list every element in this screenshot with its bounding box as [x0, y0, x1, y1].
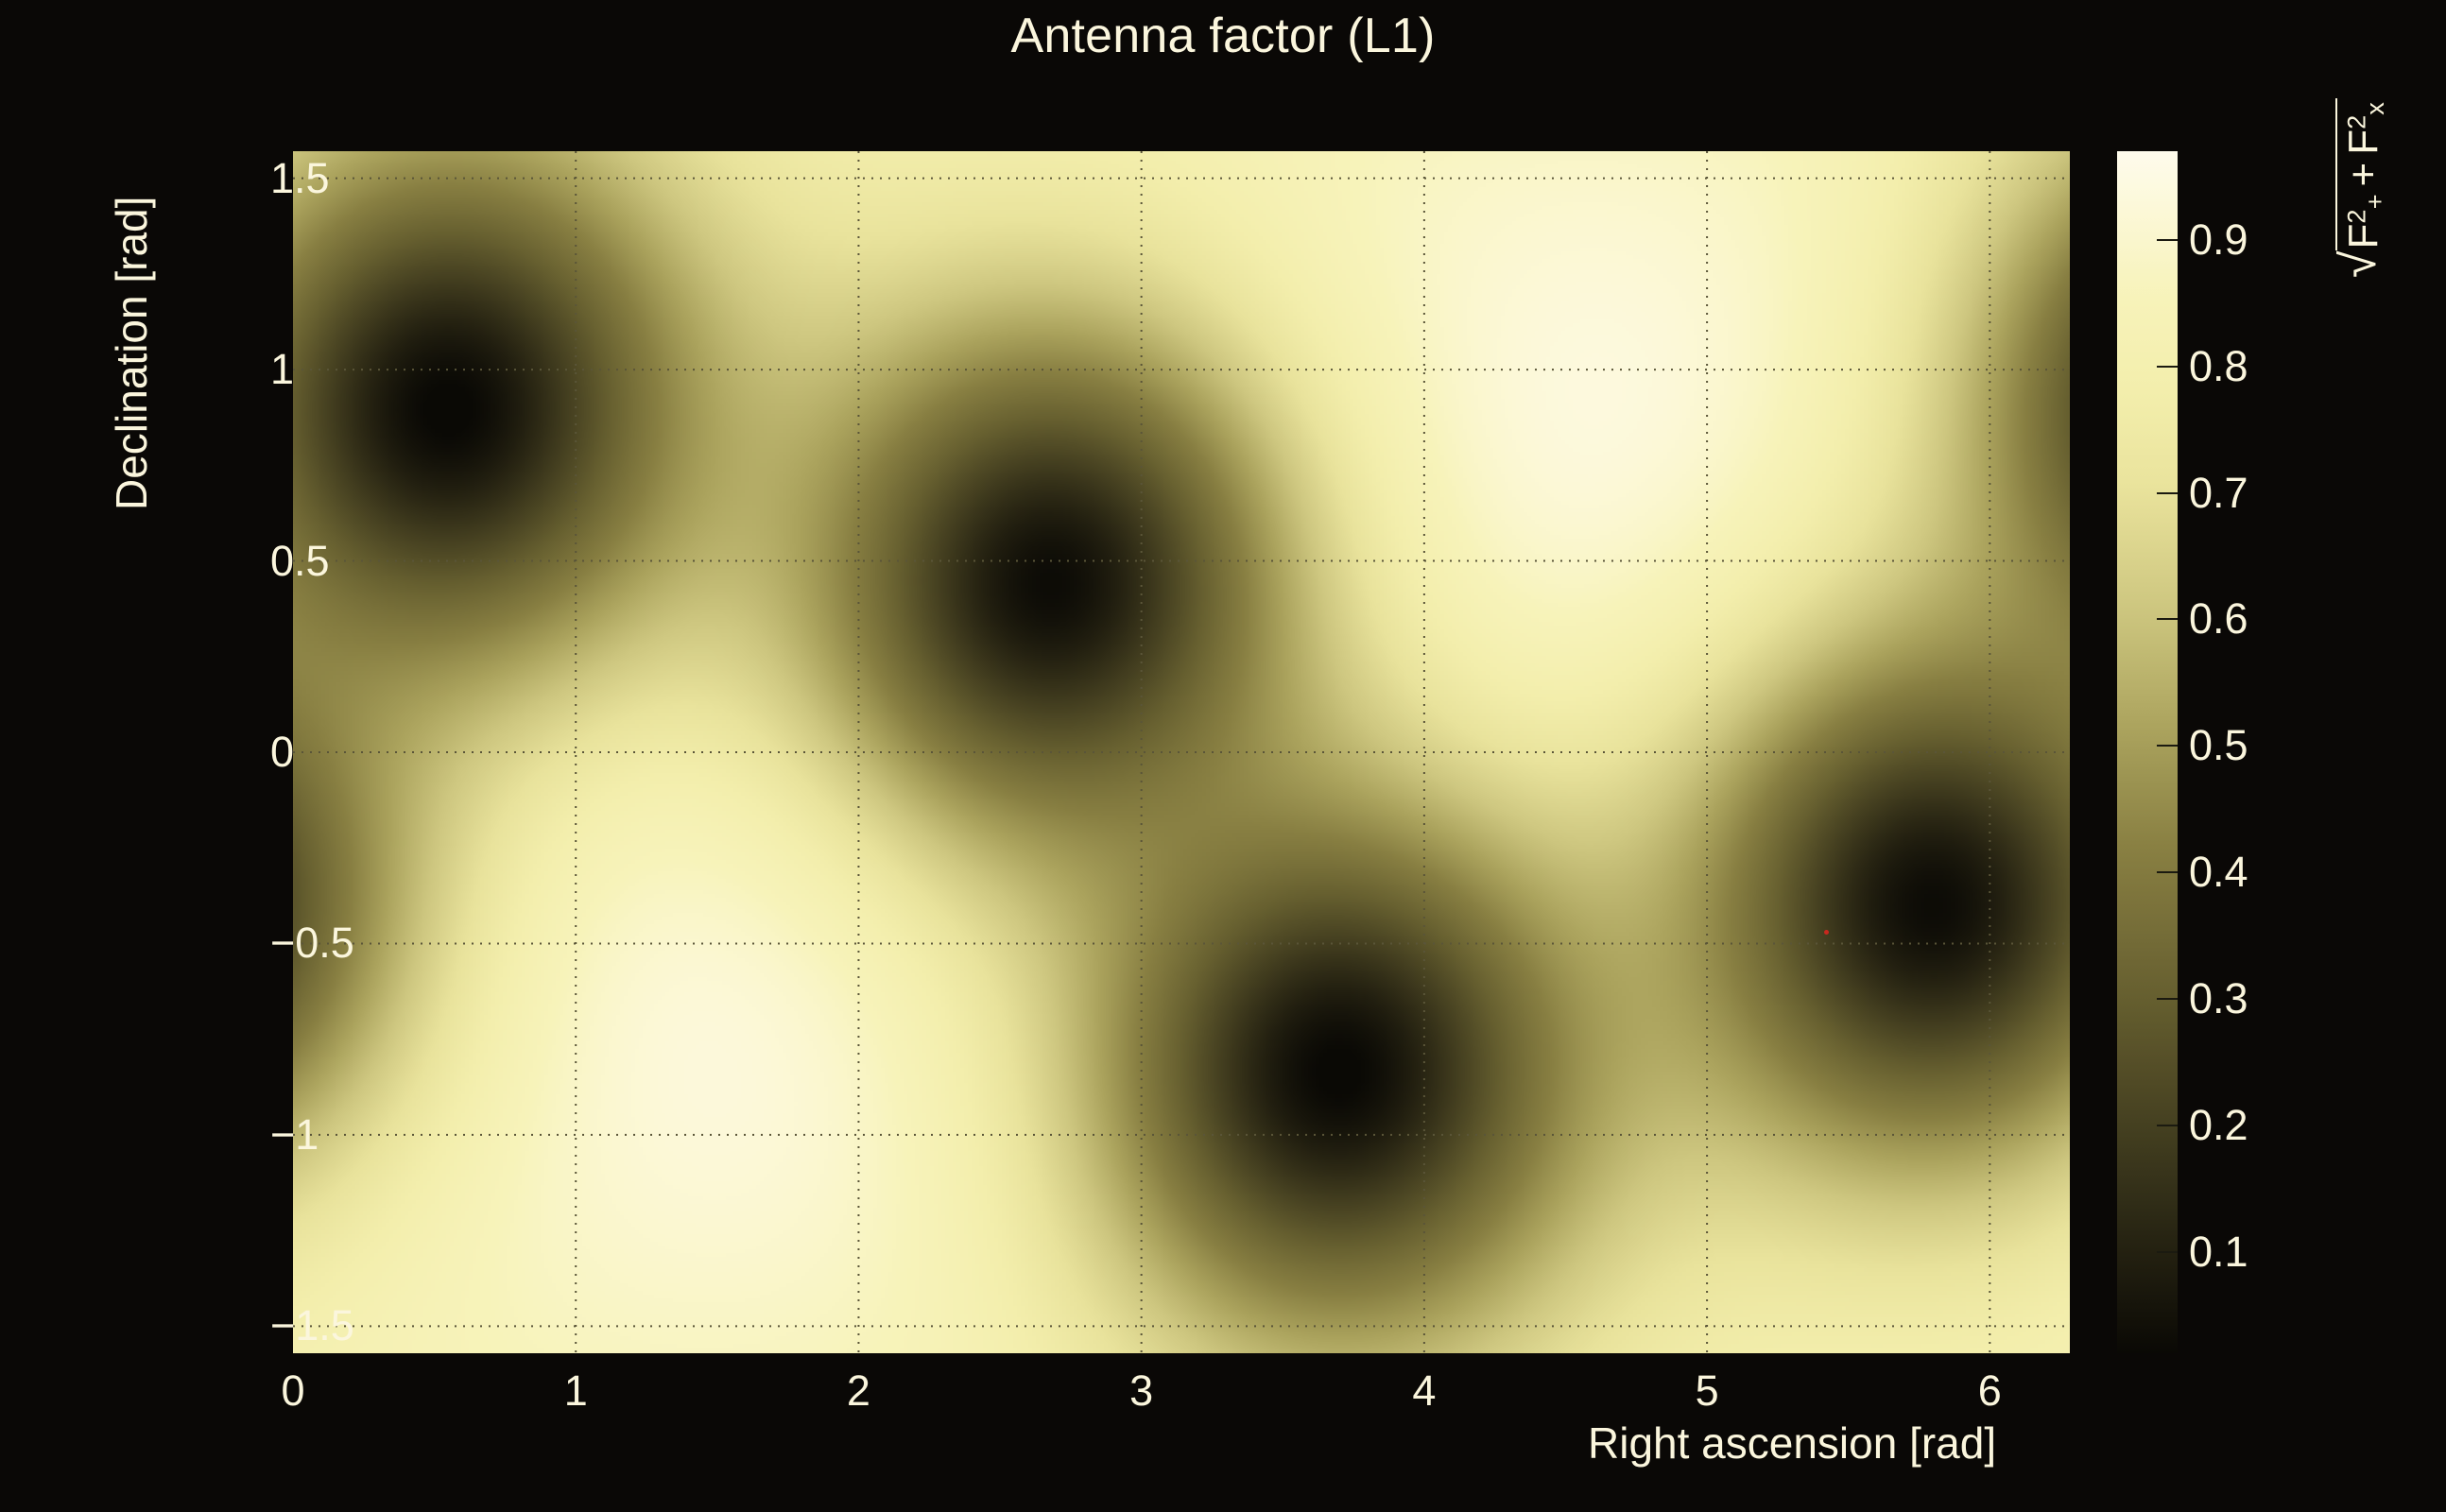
f-plus-base: F: [2340, 224, 2386, 249]
colorbar-tick-label: 0.2: [2189, 1101, 2248, 1150]
colorbar-tick-mark: [2157, 492, 2178, 494]
colorbar-axis-title: √F2++F2x: [2333, 98, 2390, 283]
x-tick-label: 2: [847, 1366, 870, 1416]
radical-icon: √: [2331, 250, 2387, 278]
x-tick-label: 5: [1696, 1366, 1719, 1416]
f-cross-sup: 2: [2342, 115, 2371, 129]
x-tick-label: 6: [1978, 1366, 2002, 1416]
f-cross-base: F: [2340, 129, 2386, 155]
colorbar-tick-label: 0.5: [2189, 721, 2248, 770]
colorbar-tick-label: 0.8: [2189, 342, 2248, 391]
colorbar-tick-mark: [2157, 366, 2178, 368]
colorbar-tick-mark: [2157, 1251, 2178, 1253]
colorbar-tick-label: 0.9: [2189, 215, 2248, 265]
x-tick-label: 4: [1412, 1366, 1436, 1416]
colorbar-tick-label: 0.7: [2189, 469, 2248, 518]
colorbar-tick-mark: [2157, 745, 2178, 747]
radicand: F2++F2x: [2335, 98, 2390, 250]
colorbar-gradient: [2117, 151, 2178, 1353]
y-axis-title: Declination [rad]: [106, 197, 157, 510]
colorbar-tick-label: 0.4: [2189, 848, 2248, 897]
page-title: Antenna factor (L1): [0, 8, 2446, 64]
colorbar-tick-mark: [2157, 239, 2178, 241]
f-plus-sup: 2: [2342, 209, 2371, 223]
f-plus-sub: +: [2360, 194, 2389, 209]
colorbar[interactable]: [2117, 151, 2178, 1353]
x-tick-label: 1: [564, 1366, 588, 1416]
colorbar-tick-mark: [2157, 998, 2178, 1000]
plus-operator: +: [2340, 155, 2386, 195]
x-tick-label: 0: [281, 1366, 304, 1416]
colorbar-tick-mark: [2157, 618, 2178, 620]
x-tick-label: 3: [1129, 1366, 1153, 1416]
heatmap-image: [293, 151, 2070, 1353]
colorbar-tick-mark: [2157, 871, 2178, 873]
colorbar-tick-label: 0.6: [2189, 594, 2248, 644]
heatmap-plot-area[interactable]: [293, 151, 2070, 1353]
colorbar-tick-label: 0.3: [2189, 974, 2248, 1023]
plot-canvas: Antenna factor (L1) 0123456 −1.5−1−0.500…: [0, 0, 2446, 1512]
f-cross-sub: x: [2360, 102, 2389, 115]
sqrt-expression: √F2++F2x: [2333, 98, 2390, 283]
colorbar-tick-label: 0.1: [2189, 1228, 2248, 1277]
x-axis-title: Right ascension [rad]: [1588, 1417, 1996, 1469]
colorbar-tick-mark: [2157, 1125, 2178, 1126]
